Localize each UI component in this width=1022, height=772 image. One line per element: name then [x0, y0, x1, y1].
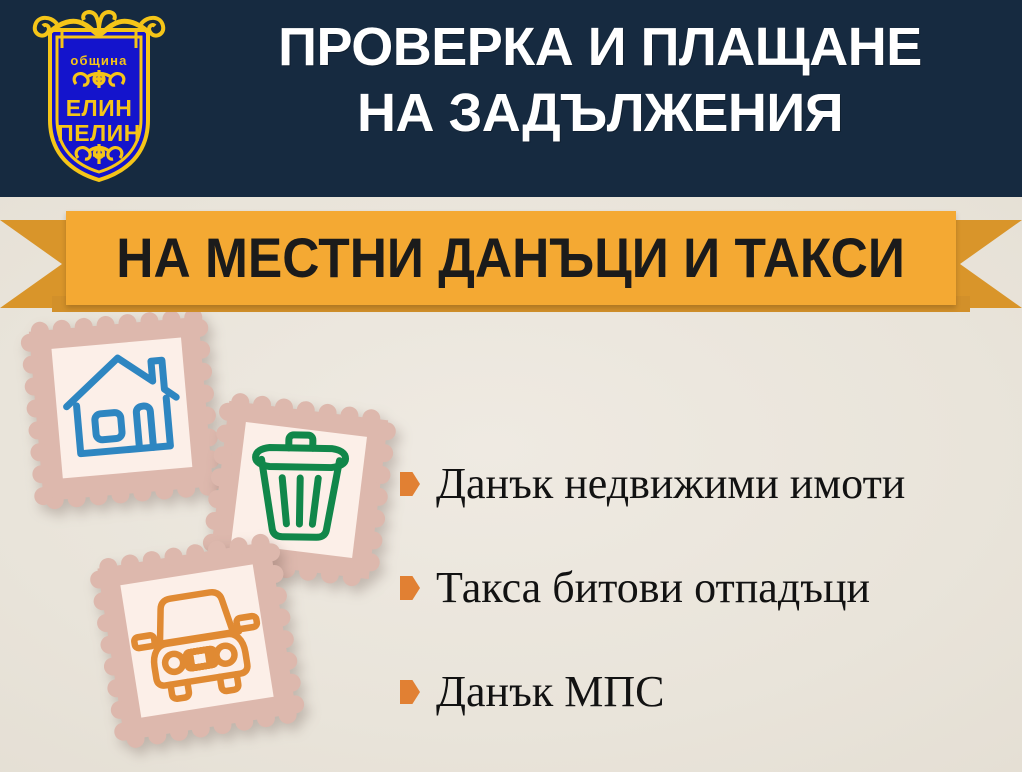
list-item[interactable]: Такса битови отпадъци — [400, 536, 1012, 640]
ribbon-panel: НА МЕСТНИ ДАНЪЦИ И ТАКСИ — [66, 211, 956, 305]
ribbon-label: НА МЕСТНИ ДАНЪЦИ И ТАКСИ — [117, 229, 906, 287]
list-item-label: Данък недвижими имоти — [436, 459, 905, 509]
list-item[interactable]: Данък МПС — [400, 640, 1012, 744]
municipality-crest-logo: община ЕЛИН ПЕЛИН — [24, 8, 174, 188]
header-banner: община ЕЛИН ПЕЛИН — [0, 0, 1022, 197]
page-title-line-2: НА ЗАДЪЛЖЕНИЯ — [185, 80, 1015, 146]
crest-name-line2: ПЕЛИН — [57, 120, 141, 146]
crest-top-label: община — [70, 53, 127, 68]
subtitle-ribbon: НА МЕСТНИ ДАНЪЦИ И ТАКСИ — [0, 198, 1022, 323]
stamp-card-vehicle — [88, 532, 306, 750]
page-title: ПРОВЕРКА И ПЛАЩАНЕ НА ЗАДЪЛЖЕНИЯ — [185, 14, 1015, 146]
arrow-bullet-icon — [400, 472, 420, 496]
arrow-bullet-icon — [400, 576, 420, 600]
poster-canvas: община ЕЛИН ПЕЛИН — [0, 0, 1022, 772]
tax-types-list: Данък недвижими имоти Такса битови отпад… — [400, 432, 1012, 744]
list-item-label: Такса битови отпадъци — [436, 563, 870, 613]
page-title-line-1: ПРОВЕРКА И ПЛАЩАНЕ — [278, 17, 922, 77]
stamp-card-property — [14, 302, 229, 517]
crest-name-line1: ЕЛИН — [66, 95, 133, 121]
list-item-label: Данък МПС — [436, 667, 664, 717]
arrow-bullet-icon — [400, 680, 420, 704]
list-item[interactable]: Данък недвижими имоти — [400, 432, 1012, 536]
